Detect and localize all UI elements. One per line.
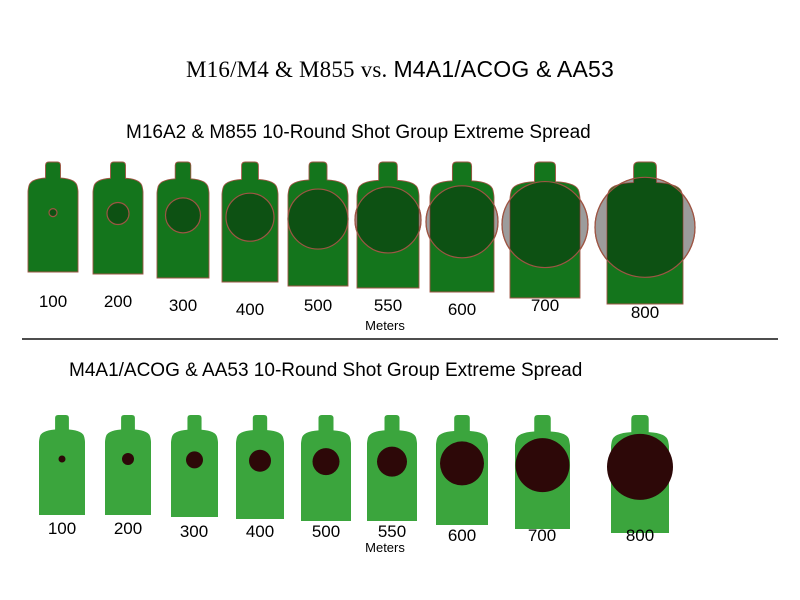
shot-group-circle-400m (249, 450, 271, 472)
axis-label-meters-row1: Meters (365, 318, 405, 333)
shot-group-circle-500m (313, 448, 340, 475)
target-silhouette-600m (418, 150, 506, 304)
shot-group-circle-600m (440, 441, 484, 485)
slide-canvas: M16/M4 & M855 vs. M4A1/ACOG & AA53 M16A2… (0, 0, 800, 600)
tick-label-row1-100m: 100 (39, 292, 67, 312)
tick-label-row1-700m: 700 (531, 296, 559, 316)
target-silhouette-550m (347, 152, 429, 298)
tick-label-row1-400m: 400 (236, 300, 264, 320)
target-silhouette-400m (228, 407, 292, 527)
tick-label-row2-400m: 400 (246, 522, 274, 542)
page-title: M16/M4 & M855 vs. M4A1/ACOG & AA53 (0, 56, 800, 83)
shot-group-circle-700m (515, 438, 569, 492)
shot-group-circle-200m (122, 453, 134, 465)
target-silhouette-300m (163, 407, 226, 525)
chart-title-m4a1: M4A1/ACOG & AA53 10-Round Shot Group Ext… (69, 360, 582, 382)
target-silhouette-100m (20, 154, 86, 280)
target-silhouette-200m (97, 407, 159, 523)
target-silhouette-300m (149, 154, 217, 286)
target-silhouette-600m (428, 407, 496, 533)
chart-title-m16a2: M16A2 & M855 10-Round Shot Group Extreme… (126, 122, 591, 144)
target-silhouette-700m (507, 407, 578, 537)
target-silhouette-500m (293, 407, 359, 529)
silhouette-body (39, 415, 85, 515)
tick-label-row2-100m: 100 (48, 519, 76, 539)
tick-label-row2-600m: 600 (448, 526, 476, 546)
target-silhouette-800m (599, 403, 681, 545)
target-silhouette-100m (31, 407, 93, 523)
tick-label-row2-500m: 500 (312, 522, 340, 542)
target-silhouette-550m (359, 407, 425, 529)
shot-group-circle-800m (607, 434, 673, 500)
tick-label-row1-500m: 500 (304, 296, 332, 316)
target-silhouette-500m (280, 154, 356, 294)
tick-label-row1-300m: 300 (169, 296, 197, 316)
shot-group-circle-300m (186, 451, 203, 468)
target-silhouette-800m (587, 142, 703, 324)
axis-label-meters-row2: Meters (365, 540, 405, 555)
target-silhouette-200m (85, 154, 151, 282)
tick-label-row1-800m: 800 (631, 303, 659, 323)
tick-label-row1-600m: 600 (448, 300, 476, 320)
target-silhouette-700m (494, 146, 596, 314)
tick-label-row1-200m: 200 (104, 292, 132, 312)
page-title-sans: M4A1/ACOG & AA53 (393, 56, 614, 82)
tick-label-row2-800m: 800 (626, 526, 654, 546)
target-silhouette-400m (214, 154, 286, 290)
section-divider (22, 338, 778, 340)
shot-group-circle-550m (377, 447, 407, 477)
tick-label-row2-300m: 300 (180, 522, 208, 542)
tick-label-row2-550m: 550 (378, 522, 406, 542)
tick-label-row1-550m: 550 (374, 296, 402, 316)
tick-label-row2-200m: 200 (114, 519, 142, 539)
shot-group-circle-100m (59, 456, 66, 463)
tick-label-row2-700m: 700 (528, 526, 556, 546)
page-title-serif: M16/M4 & M855 vs. (186, 57, 393, 82)
